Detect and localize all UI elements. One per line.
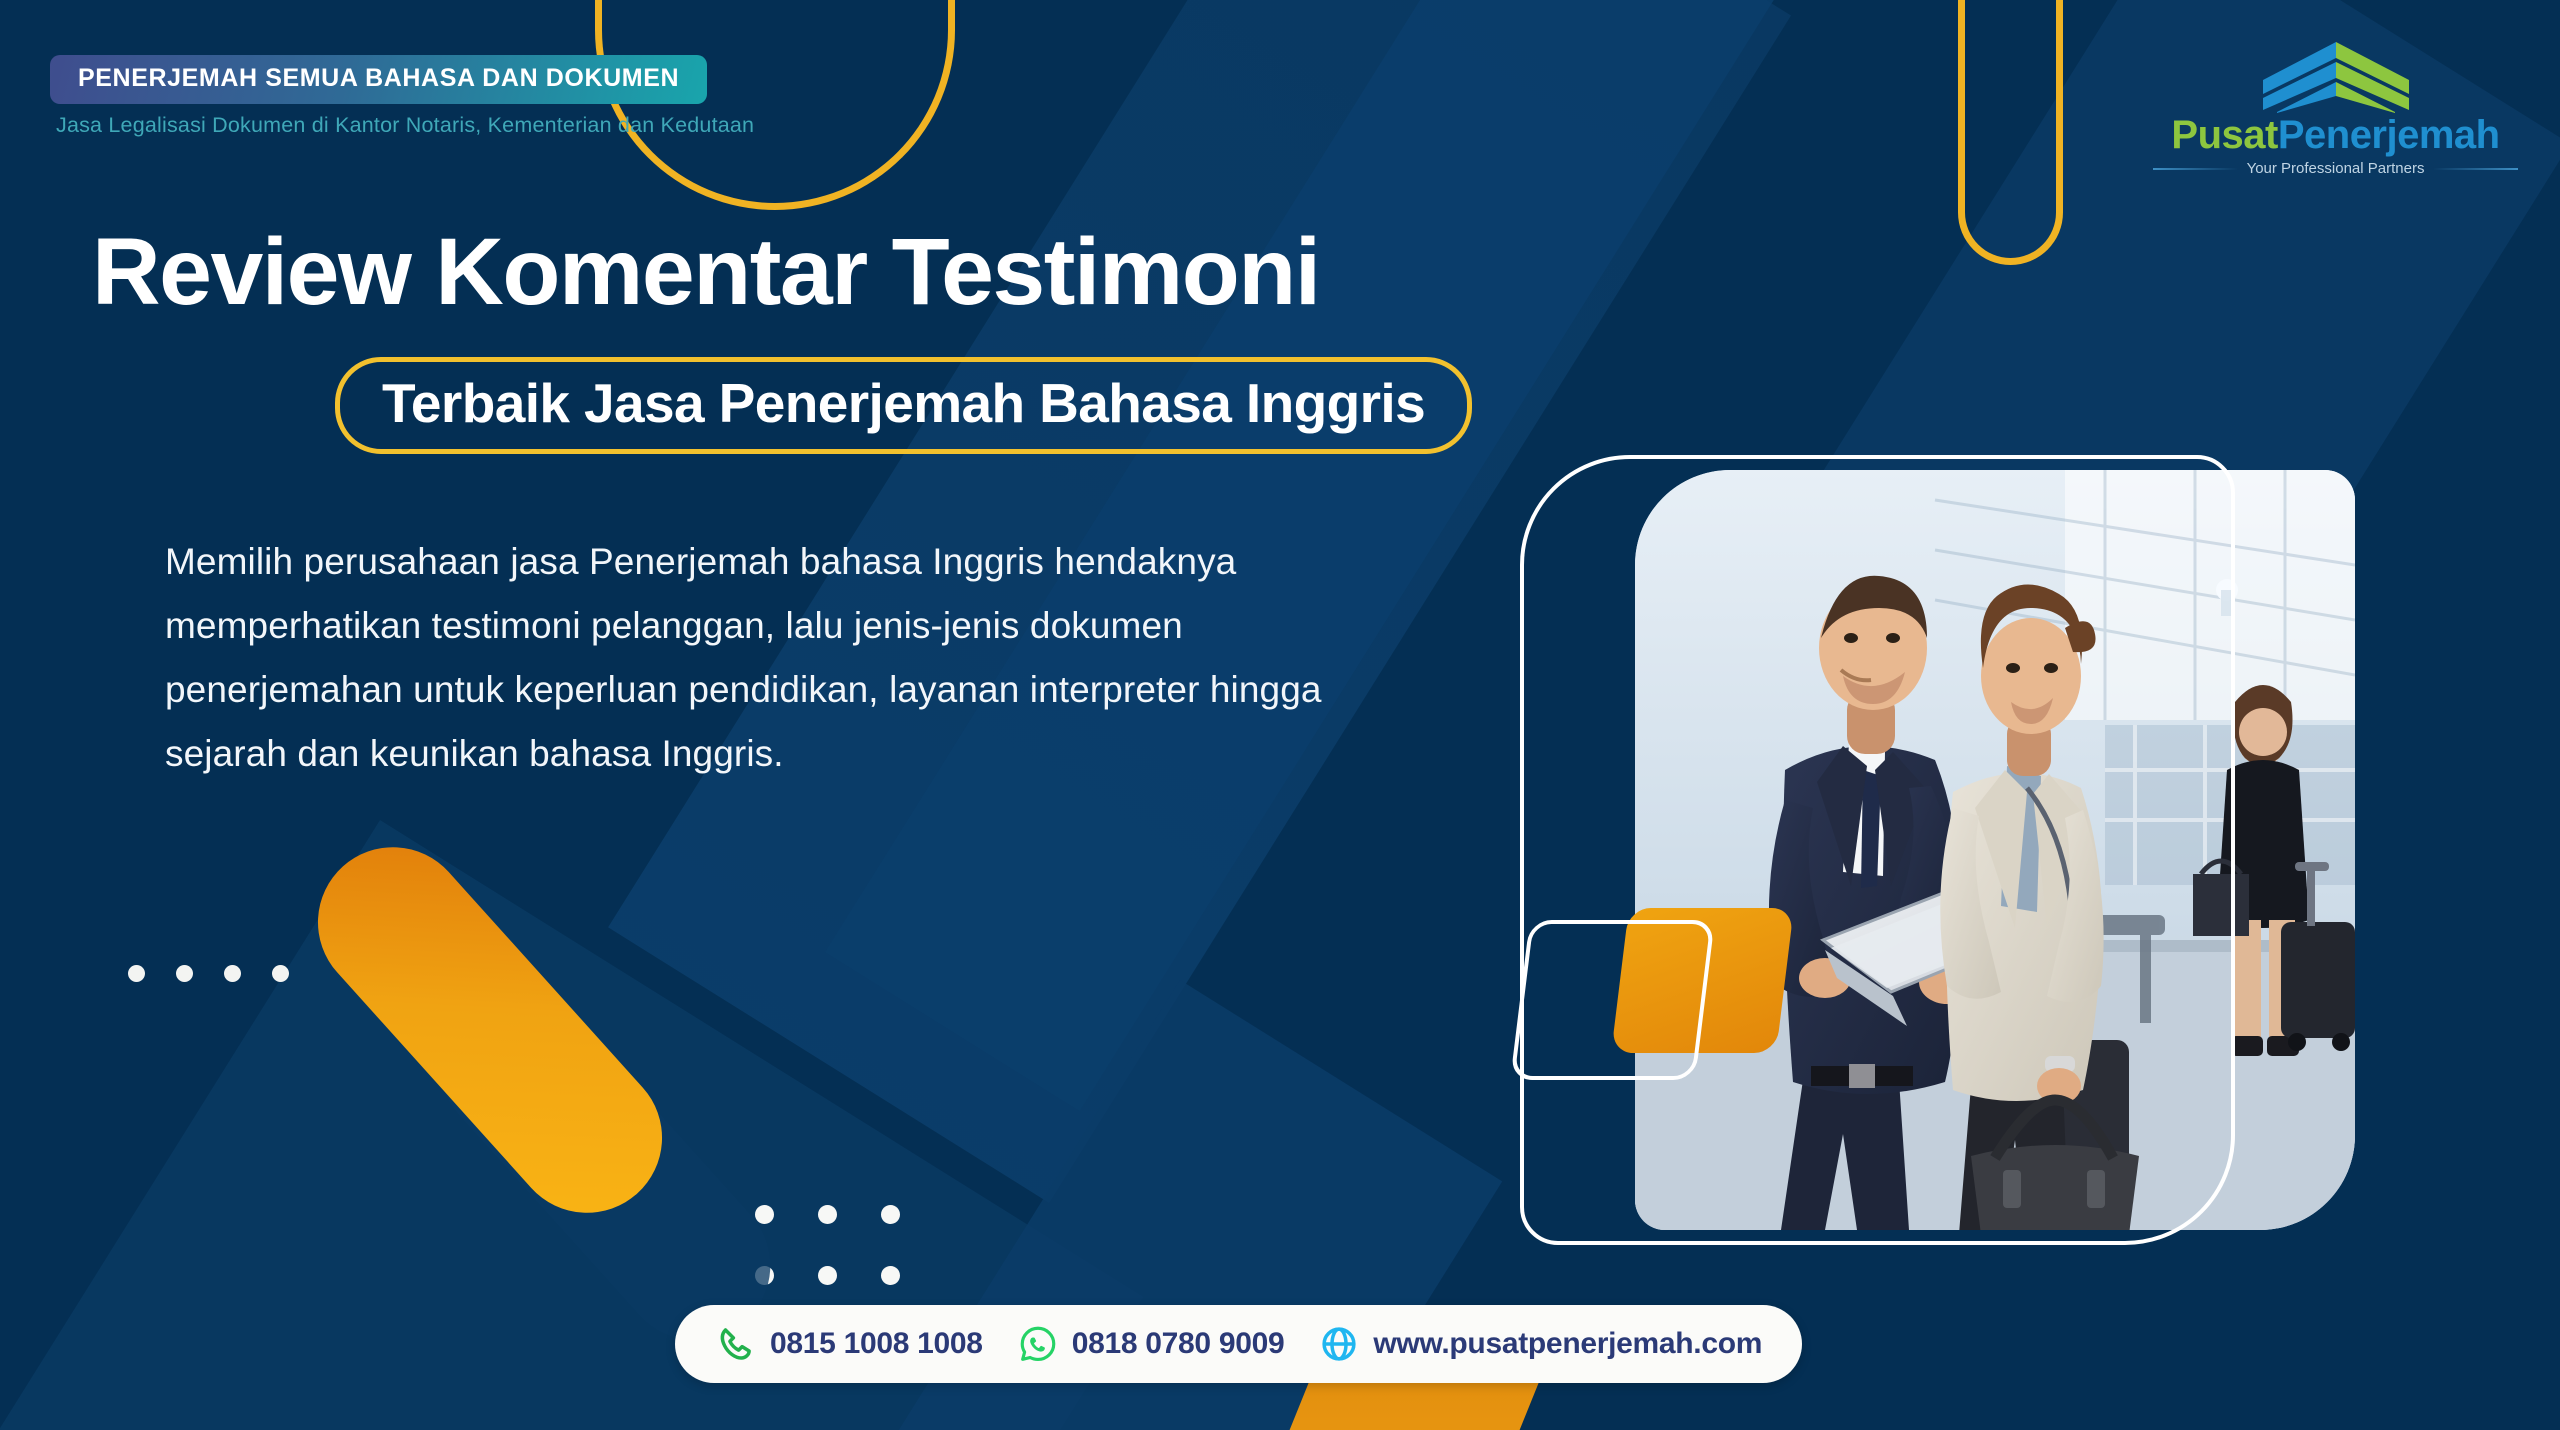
subtitle-box: Terbaik Jasa Penerjemah Bahasa Inggris xyxy=(335,357,1472,454)
dot xyxy=(881,1266,900,1285)
whatsapp-number: 0818 0780 9009 xyxy=(1072,1327,1285,1361)
phone-number: 0815 1008 1008 xyxy=(770,1327,983,1361)
white-square-outline-decor xyxy=(1510,920,1715,1080)
dot xyxy=(818,1205,837,1224)
building-chevron-icon xyxy=(2241,38,2431,113)
yellow-u-shape-small xyxy=(1958,0,2063,265)
dot-row-decor xyxy=(128,965,289,982)
phone-icon xyxy=(715,1323,757,1365)
brand-logo[interactable]: PusatPenerjemah Your Professional Partne… xyxy=(2153,38,2518,177)
page-title: Review Komentar Testimoni xyxy=(92,225,1320,320)
globe-icon xyxy=(1318,1323,1360,1365)
dot xyxy=(176,965,193,982)
body-paragraph: Memilih perusahaan jasa Penerjemah bahas… xyxy=(165,530,1365,786)
dot xyxy=(272,965,289,982)
business-people-photo xyxy=(1635,470,2355,1230)
dot-grid-decor xyxy=(755,1205,898,1283)
logo-rule-right xyxy=(2433,168,2518,170)
contact-item-whatsapp[interactable]: 0818 0780 9009 xyxy=(1017,1323,1285,1365)
logo-word-pusat: Pusat xyxy=(2171,113,2277,157)
logo-rule-left xyxy=(2153,168,2238,170)
promo-banner: PENERJEMAH SEMUA BAHASA DAN DOKUMEN Jasa… xyxy=(0,0,2560,1430)
dot xyxy=(881,1205,900,1224)
website-url: www.pusatpenerjemah.com xyxy=(1373,1327,1762,1361)
header-badge-group: PENERJEMAH SEMUA BAHASA DAN DOKUMEN Jasa… xyxy=(50,55,754,138)
dot xyxy=(128,965,145,982)
dot xyxy=(224,965,241,982)
logo-wordmark: PusatPenerjemah xyxy=(2153,115,2518,155)
logo-tagline: Your Professional Partners xyxy=(2247,160,2425,177)
logo-word-penerjemah: Penerjemah xyxy=(2278,113,2500,157)
contact-bar: 0815 1008 1008 0818 0780 9009 www.pusatp… xyxy=(675,1305,1802,1383)
dot xyxy=(755,1205,774,1224)
whatsapp-icon xyxy=(1017,1323,1059,1365)
badge-subtitle: Jasa Legalisasi Dokumen di Kantor Notari… xyxy=(56,113,754,138)
hero-photo xyxy=(1635,470,2355,1230)
contact-item-phone[interactable]: 0815 1008 1008 xyxy=(715,1323,983,1365)
dot xyxy=(818,1266,837,1285)
contact-item-website[interactable]: www.pusatpenerjemah.com xyxy=(1318,1323,1762,1365)
page-subtitle: Terbaik Jasa Penerjemah Bahasa Inggris xyxy=(382,376,1425,431)
badge-title: PENERJEMAH SEMUA BAHASA DAN DOKUMEN xyxy=(50,55,707,104)
logo-tagline-row: Your Professional Partners xyxy=(2153,160,2518,177)
